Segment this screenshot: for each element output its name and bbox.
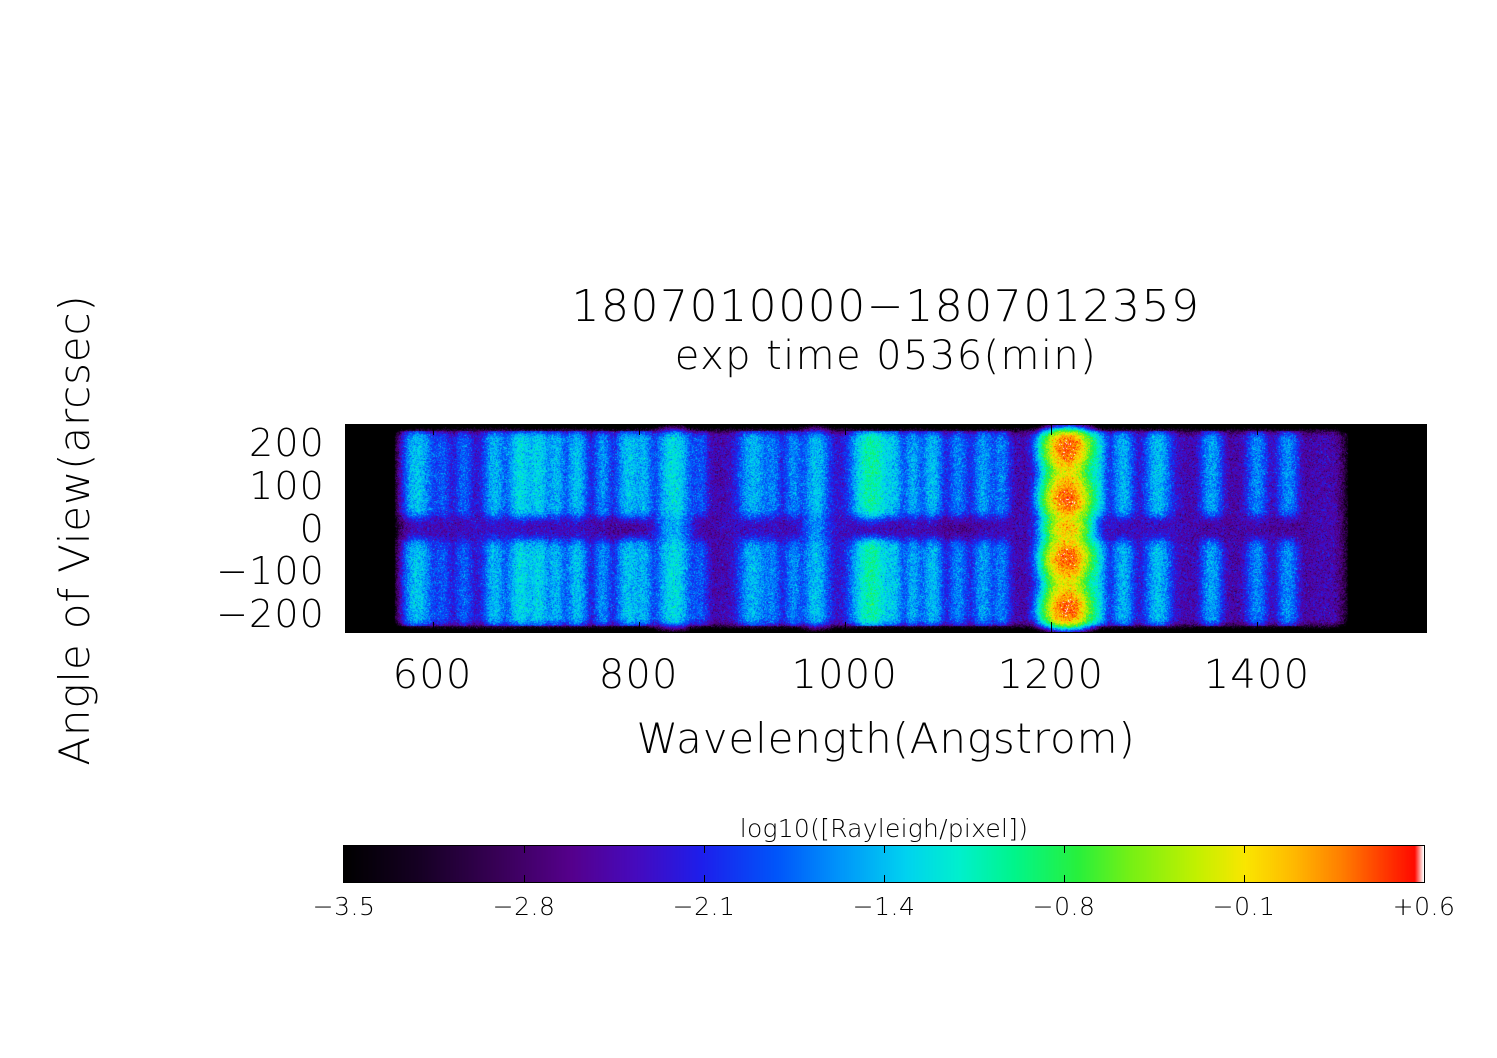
x-tick-bottom [536,627,537,633]
x-tick-top [845,424,846,435]
x-tick-top [742,424,743,430]
x-tick-top [896,424,897,430]
x-tick-top [381,424,382,430]
y-tick-label: −200 [105,595,325,633]
y-tick-left [345,443,356,444]
y-tick-right [1421,454,1427,455]
spectrogram-plot-area [345,424,1427,633]
x-tick-label: 600 [333,655,533,695]
x-tick-bottom [690,627,691,633]
colorbar-tick [1244,875,1245,882]
y-tick-left [345,433,351,434]
x-tick-bottom [1412,627,1413,633]
colorbar-tick [884,875,885,882]
y-tick-left [345,529,356,530]
x-tick-bottom [1205,627,1206,633]
x-axis-title: Wavelength(Angstrom) [345,714,1427,763]
colorbar-tick-label: −2.8 [444,894,604,919]
spectrogram-heatmap [345,424,1427,633]
y-tick-left [345,592,351,593]
x-tick-top [1308,424,1309,430]
y-tick-left [345,571,356,572]
y-tick-right [1421,465,1427,466]
y-tick-right [1421,560,1427,561]
x-tick-bottom [639,622,640,633]
x-tick-label: 1200 [951,655,1151,695]
x-tick-bottom [999,627,1000,633]
spectrogram-figure: 1807010000−1807012359 exp time 0536(min)… [0,0,1497,1058]
colorbar-title: log10([Rayleigh/pixel]) [343,814,1425,843]
y-tick-label: 0 [105,510,325,548]
x-tick-top [1205,424,1206,430]
y-tick-left [345,497,351,498]
x-tick-top [639,424,640,435]
x-tick-bottom [381,627,382,633]
colorbar-tick [524,846,525,853]
y-tick-right [1416,486,1427,487]
colorbar-tick-label: −2.1 [624,894,784,919]
colorbar-tick [524,875,525,882]
colorbar-tick-label: +0.6 [1344,894,1497,919]
x-tick-bottom [948,627,949,633]
colorbar-tick [1244,846,1245,853]
y-tick-left [345,603,351,604]
y-tick-right [1421,518,1427,519]
x-tick-top [1412,424,1413,430]
y-tick-right [1416,443,1427,444]
x-tick-bottom [1102,627,1103,633]
y-tick-right [1416,571,1427,572]
colorbar-tick [1064,846,1065,853]
y-tick-right [1416,529,1427,530]
x-tick-top [1257,424,1258,435]
y-tick-left [345,465,351,466]
colorbar-tick [704,875,705,882]
x-tick-top [433,424,434,435]
x-tick-bottom [1257,622,1258,633]
y-tick-left [345,614,356,615]
x-tick-top [1102,424,1103,430]
y-tick-right [1421,539,1427,540]
x-tick-bottom [1154,627,1155,633]
y-tick-right [1421,497,1427,498]
x-tick-top [1154,424,1155,430]
x-tick-label: 800 [539,655,739,695]
colorbar-tick-label: −3.5 [264,894,424,919]
y-tick-left [345,560,351,561]
title-exposure-time: exp time 0536(min) [345,332,1427,380]
x-tick-top [690,424,691,430]
x-tick-label: 1000 [745,655,945,695]
colorbar-tick [1064,875,1065,882]
y-tick-left [345,518,351,519]
y-tick-right [1421,433,1427,434]
x-tick-top [793,424,794,430]
colorbar-tick [704,846,705,853]
x-tick-bottom [896,627,897,633]
y-tick-label: −100 [105,552,325,590]
y-tick-right [1421,550,1427,551]
x-tick-top [587,424,588,430]
y-tick-right [1421,582,1427,583]
title-observation-id: 1807010000−1807012359 [345,282,1427,332]
colorbar-tick-label: −0.1 [1164,894,1324,919]
colorbar-tick-label: −1.4 [804,894,964,919]
x-tick-top [999,424,1000,430]
x-tick-top [948,424,949,430]
x-tick-top [1360,424,1361,430]
y-tick-left [345,550,351,551]
x-tick-bottom [845,622,846,633]
figure-title: 1807010000−1807012359 exp time 0536(min) [345,282,1427,380]
x-tick-bottom [1360,627,1361,633]
y-tick-left [345,507,351,508]
y-tick-left [345,475,351,476]
x-tick-top [1051,424,1052,435]
y-tick-right [1421,624,1427,625]
x-tick-bottom [484,627,485,633]
x-tick-bottom [587,627,588,633]
x-tick-bottom [1308,627,1309,633]
y-tick-left [345,539,351,540]
x-tick-bottom [793,627,794,633]
y-tick-label: 100 [105,467,325,505]
x-tick-top [536,424,537,430]
y-tick-label: 200 [105,424,325,462]
y-axis-title: Angle of View(arcsec) [50,250,99,810]
x-tick-top [484,424,485,430]
y-tick-right [1421,603,1427,604]
y-tick-left [345,486,356,487]
y-tick-right [1416,614,1427,615]
y-tick-left [345,624,351,625]
y-tick-right [1421,507,1427,508]
y-tick-left [345,454,351,455]
y-tick-right [1421,475,1427,476]
x-tick-bottom [1051,622,1052,633]
y-tick-left [345,582,351,583]
x-tick-label: 1400 [1157,655,1357,695]
colorbar-tick-label: −0.8 [984,894,1144,919]
x-tick-bottom [433,622,434,633]
y-tick-right [1421,592,1427,593]
x-tick-bottom [742,627,743,633]
colorbar-tick [884,846,885,853]
